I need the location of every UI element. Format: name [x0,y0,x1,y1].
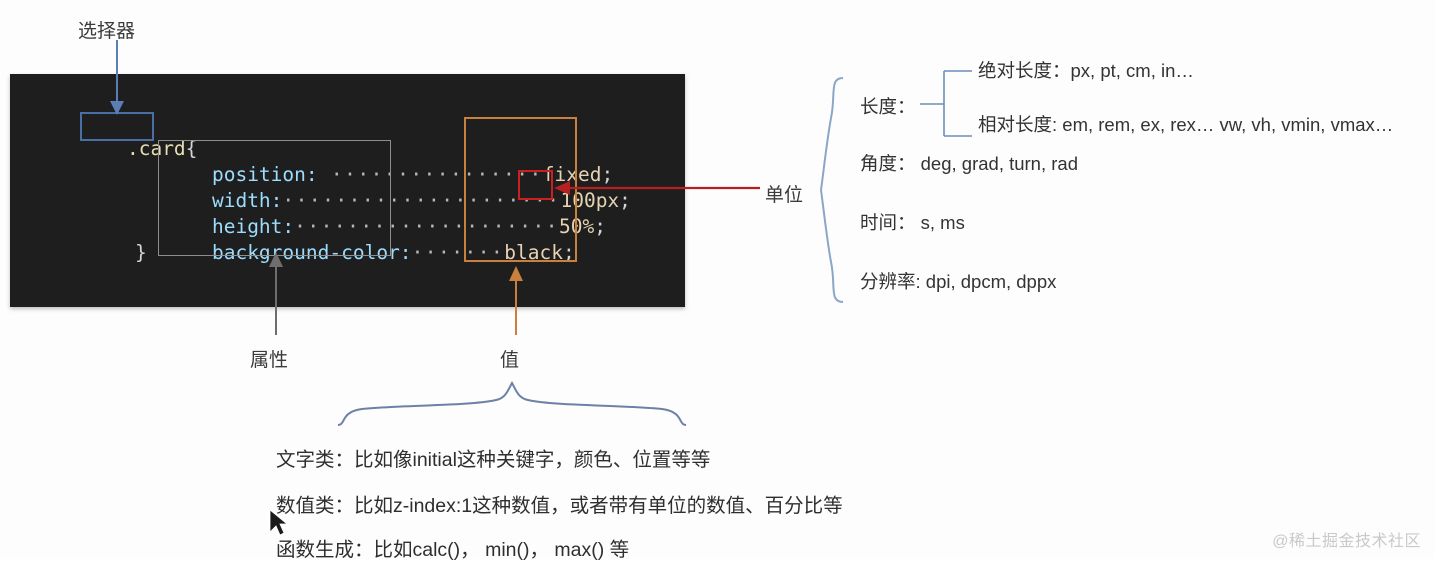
semicolon: ; [594,215,606,238]
close-brace: } [135,240,147,266]
unit-absolute-length: 绝对长度：px, pt, cm, in… [978,57,1194,83]
label-selector: 选择器 [78,16,135,43]
value-type-numeric: 数值类：比如z-index:1这种数值，或者带有单位的数值、百分比等 [276,489,843,518]
value-type-text: 文字类：比如像initial这种关键字，颜色、位置等等 [276,443,710,472]
property-highlight-box [158,140,391,256]
length-bracket [920,71,972,136]
value-categories-brace [338,383,686,425]
unit-relative-length: 相对长度: em, rem, ex, rex… vw, vh, vmin, vm… [978,111,1393,137]
label-property: 属性 [250,345,288,372]
unit-highlight-box [518,170,553,200]
unit-angle: 角度： deg, grad, turn, rad [860,150,1078,176]
value-type-function: 函数生成：比如calc()， min()， max() 等 [276,533,629,562]
selector-highlight-box [80,112,154,141]
semicolon: ; [619,189,631,212]
label-value: 值 [500,345,519,372]
unit-time: 时间： s, ms [860,209,965,235]
unit-resolution: 分辨率: dpi, dpcm, dppx [860,268,1056,294]
unit-group-length-label: 长度： [860,93,916,119]
label-unit: 单位 [765,180,803,207]
watermark: @稀土掘金技术社区 [1272,527,1421,551]
units-brace [821,78,843,302]
